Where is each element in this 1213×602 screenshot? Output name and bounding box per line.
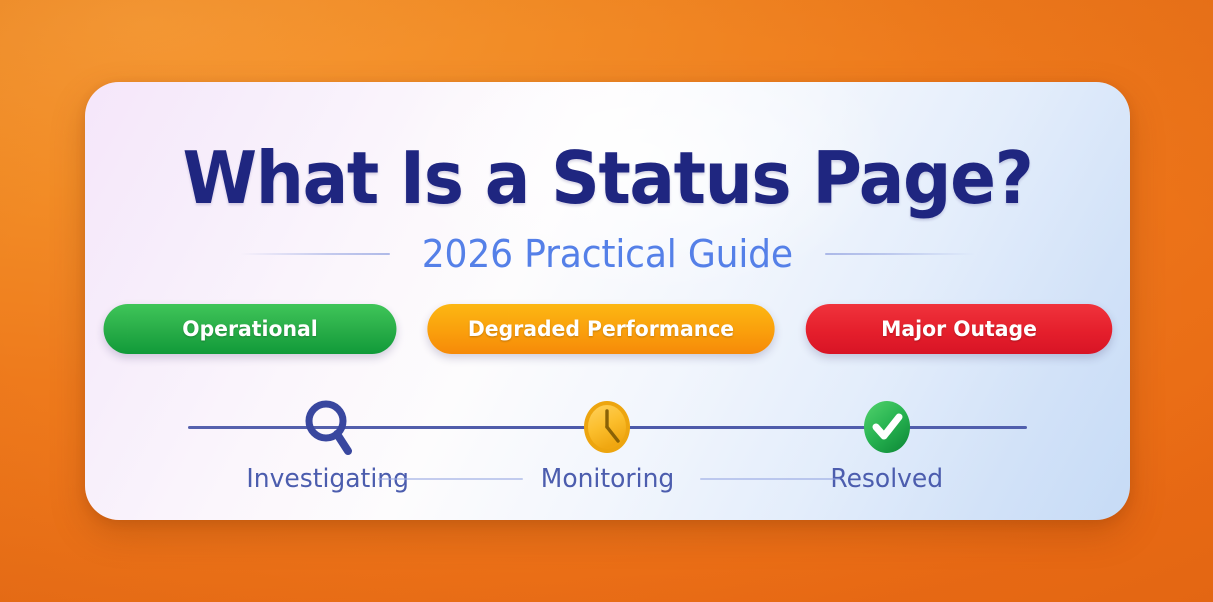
subtitle-rule-right [825, 253, 975, 255]
timeline-step-monitoring[interactable]: Monitoring [487, 378, 727, 494]
incident-timeline: Investigating [188, 378, 1027, 488]
timeline-label-connector-2 [700, 478, 840, 480]
status-pill-group: Operational Degraded Performance Major O… [85, 304, 1130, 354]
magnifier-icon [301, 394, 355, 460]
check-circle-icon [860, 394, 914, 460]
timeline-step-label-resolved: Resolved [831, 464, 944, 494]
status-badge-major-outage[interactable]: Major Outage [805, 304, 1112, 354]
page-subtitle: 2026 Practical Guide [422, 232, 793, 276]
timeline-label-connector-1 [378, 478, 523, 480]
subtitle-rule-left [240, 253, 390, 255]
page-title: What Is a Status Page? [116, 136, 1098, 220]
subtitle-row: 2026 Practical Guide [85, 234, 1130, 274]
timeline-step-label-monitoring: Monitoring [541, 464, 674, 494]
infographic-card: What Is a Status Page? 2026 Practical Gu… [85, 82, 1130, 520]
timeline-steps: Investigating [188, 378, 1027, 488]
timeline-step-resolved[interactable]: Resolved [767, 378, 1007, 494]
status-badge-degraded-performance[interactable]: Degraded Performance [427, 304, 774, 354]
timeline-step-investigating[interactable]: Investigating [208, 378, 448, 494]
status-badge-operational[interactable]: Operational [103, 304, 396, 354]
clock-icon [580, 394, 634, 460]
poster-canvas: What Is a Status Page? 2026 Practical Gu… [0, 0, 1213, 602]
